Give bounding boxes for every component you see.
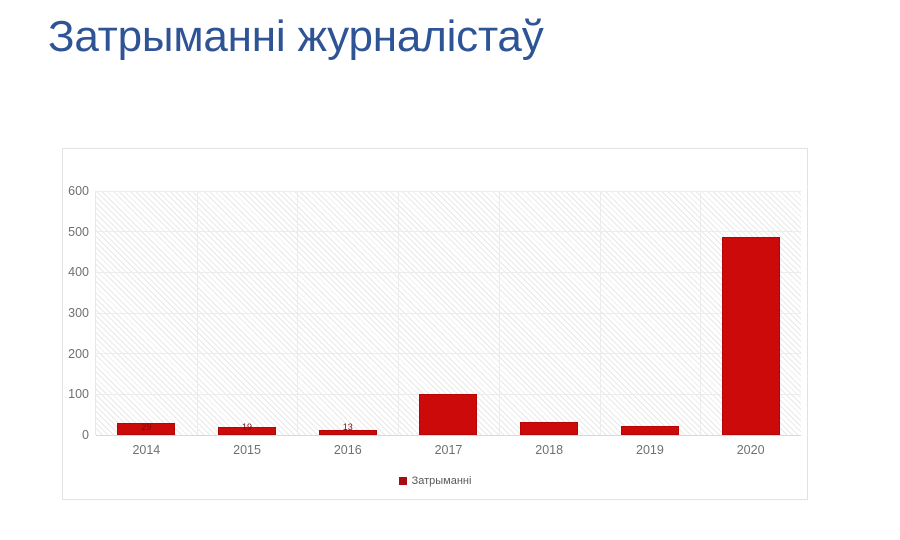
x-axis-tick-label: 2020	[700, 443, 801, 457]
x-axis-tick-label: 2019	[600, 443, 701, 457]
x-axis-tick-label: 2015	[197, 443, 298, 457]
bar[interactable]	[621, 426, 679, 435]
bar-data-label: 29	[118, 422, 174, 433]
y-axis-tick-label: 300	[68, 306, 89, 320]
chart-container[interactable]: 0100200300400500600 29201419201513201620…	[62, 148, 808, 500]
bar-data-label: 13	[320, 422, 376, 433]
chart-category-2016: 132016	[297, 191, 398, 435]
bar[interactable]: 29	[117, 423, 175, 435]
x-axis-tick-label: 2017	[398, 443, 499, 457]
chart-plot-area: 0100200300400500600 29201419201513201620…	[95, 191, 801, 435]
bar[interactable]	[520, 422, 578, 435]
chart-category-2014: 292014	[96, 191, 197, 435]
bar[interactable]	[419, 394, 477, 435]
y-axis-tick-label: 600	[68, 184, 89, 198]
legend-swatch-icon	[399, 477, 407, 485]
chart-category-2020: 2020	[700, 191, 801, 435]
legend-label: Затрыманні	[412, 475, 472, 487]
x-axis-tick-label: 2014	[96, 443, 197, 457]
chart-category-2015: 192015	[197, 191, 298, 435]
bar-data-label: 19	[219, 422, 275, 433]
y-axis-tick-label: 100	[68, 387, 89, 401]
x-axis-tick-label: 2018	[499, 443, 600, 457]
chart-legend: Затрыманні	[63, 475, 807, 487]
x-axis-tick-label: 2016	[297, 443, 398, 457]
y-axis-tick-label: 500	[68, 225, 89, 239]
chart-category-2017: 2017	[398, 191, 499, 435]
chart-category-2018: 2018	[499, 191, 600, 435]
y-axis-tick-label: 0	[82, 428, 89, 442]
chart-bars: 2920141920151320162017201820192020	[96, 191, 801, 435]
page-title: Затрыманні журналістаў	[48, 12, 544, 63]
y-axis-tick-label: 200	[68, 347, 89, 361]
bar[interactable]: 13	[319, 430, 377, 435]
bar[interactable]: 19	[218, 427, 276, 435]
y-axis-tick-label: 400	[68, 265, 89, 279]
chart-category-2019: 2019	[600, 191, 701, 435]
bar[interactable]	[722, 237, 780, 435]
